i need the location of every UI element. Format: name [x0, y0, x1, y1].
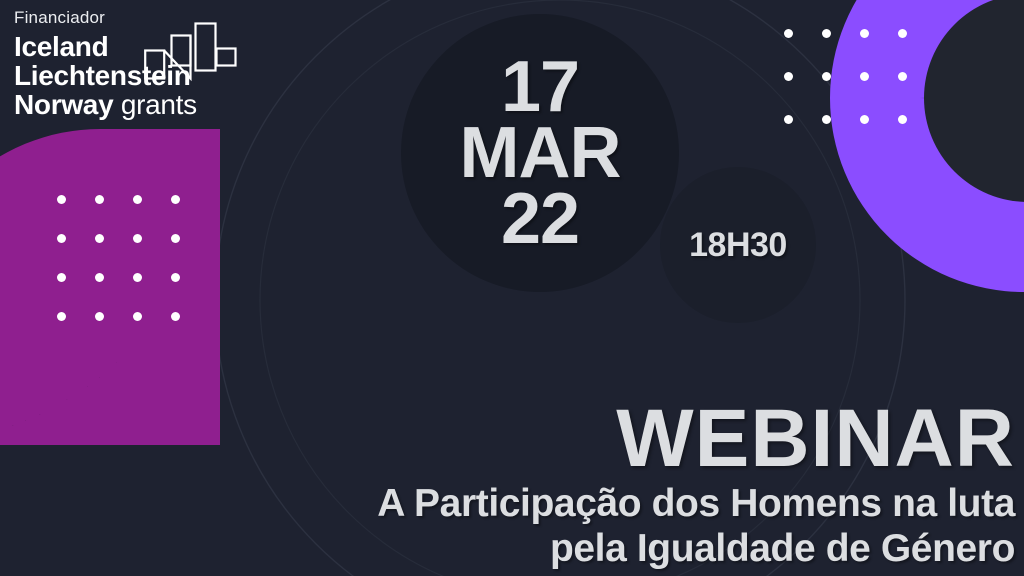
subtitle-line-2: pela Igualdade de Género — [15, 527, 1015, 572]
dot — [860, 115, 869, 124]
dot — [822, 72, 831, 81]
dot — [860, 72, 869, 81]
event-time: 18H30 — [660, 167, 816, 323]
subtitle-line-1: A Participação dos Homens na luta — [15, 482, 1015, 527]
dot — [95, 195, 104, 204]
dot — [57, 234, 66, 243]
dot — [898, 115, 907, 124]
dot — [95, 234, 104, 243]
dot — [784, 115, 793, 124]
date-day: 17 — [501, 54, 579, 120]
dot — [822, 115, 831, 124]
dot — [822, 29, 831, 38]
dot-grid-top-right — [784, 29, 936, 158]
dot — [860, 29, 869, 38]
eea-grants-bars-logo-icon — [144, 22, 238, 84]
dot — [171, 312, 180, 321]
dot — [784, 29, 793, 38]
dot — [95, 273, 104, 282]
funder-line-norway-grants: Norway grants — [14, 91, 254, 120]
dot — [57, 273, 66, 282]
dot-grid-bottom-left — [57, 195, 209, 351]
date-year: 22 — [501, 186, 579, 252]
dot — [57, 312, 66, 321]
webinar-poster: 17 MAR 22 18H30 — [0, 0, 1024, 576]
dot — [171, 273, 180, 282]
dot — [95, 312, 104, 321]
dot — [784, 72, 793, 81]
dot — [898, 72, 907, 81]
dot — [133, 312, 142, 321]
headline-block: WEBINAR A Participação dos Homens na lut… — [15, 400, 1015, 572]
date-month: MAR — [460, 120, 621, 186]
dot — [133, 273, 142, 282]
dot — [171, 234, 180, 243]
dot — [57, 195, 66, 204]
funder-grants: grants — [121, 89, 197, 120]
funder-logo: Financiador Iceland Liechtenstein Norway… — [14, 9, 254, 119]
funder-norway: Norway — [14, 89, 113, 120]
dot — [898, 29, 907, 38]
dot — [171, 195, 180, 204]
page-title: WEBINAR — [15, 400, 1015, 478]
dot — [133, 195, 142, 204]
date-text-group: 17 MAR 22 — [401, 14, 679, 292]
dot — [133, 234, 142, 243]
